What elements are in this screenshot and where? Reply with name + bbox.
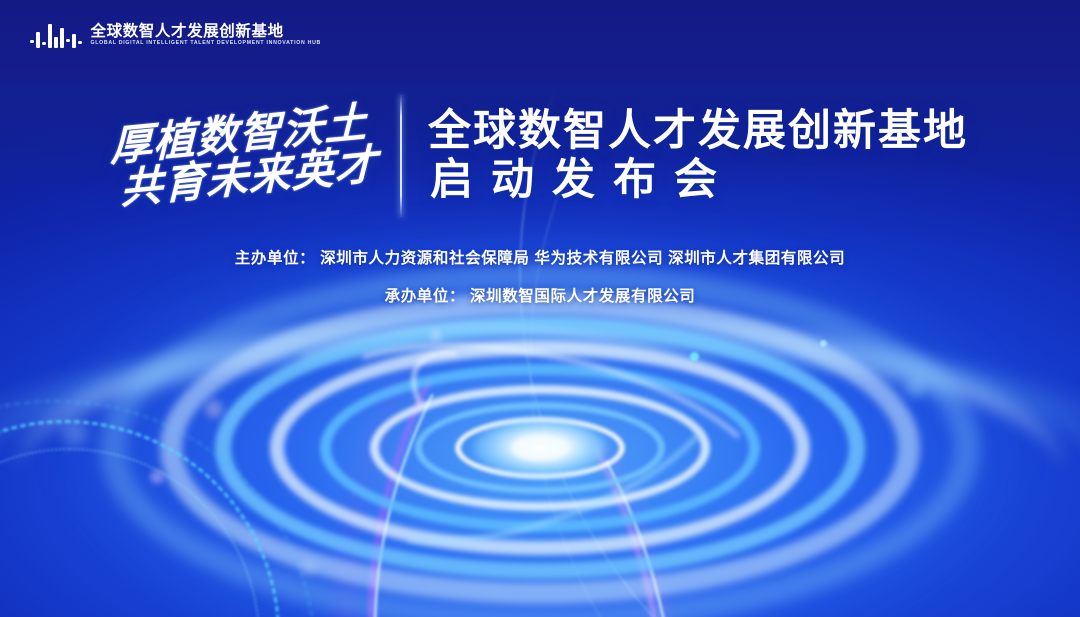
event-title: 全球数智人才发展创新基地 启动发布会: [428, 110, 968, 202]
brand-name-en: GLOBAL DIGITAL INTELLIGENT TALENT DEVELO…: [91, 41, 322, 46]
event-title-line-1: 全球数智人才发展创新基地: [428, 110, 968, 153]
brand-name-cn: 全球数智人才发展创新基地: [91, 24, 322, 40]
organizer-block: 主办单位： 深圳市人力资源和社会保障局 华为技术有限公司 深圳市人才集团有限公司…: [0, 246, 1080, 306]
headline-block: 厚植数智沃土 共育未来英才 全球数智人才发展创新基地 启动发布会: [0, 86, 1080, 226]
event-title-line-2: 启动发布会: [428, 159, 968, 202]
equalizer-bars-logo-icon: [30, 22, 82, 48]
calligraphy-slogan: 厚植数智沃土 共育未来英才: [106, 78, 387, 233]
vertical-divider: [400, 95, 402, 217]
host-organizers-line: 主办单位： 深圳市人力资源和社会保障局 华为技术有限公司 深圳市人才集团有限公司: [235, 246, 845, 268]
event-backdrop: 全球数智人才发展创新基地 GLOBAL DIGITAL INTELLIGENT …: [0, 0, 1080, 617]
co-organizer-line: 承办单位： 深圳数智国际人才发展有限公司: [385, 284, 696, 306]
brand-logo: 全球数智人才发展创新基地 GLOBAL DIGITAL INTELLIGENT …: [30, 22, 321, 48]
brand-logo-text: 全球数智人才发展创新基地 GLOBAL DIGITAL INTELLIGENT …: [91, 24, 322, 47]
